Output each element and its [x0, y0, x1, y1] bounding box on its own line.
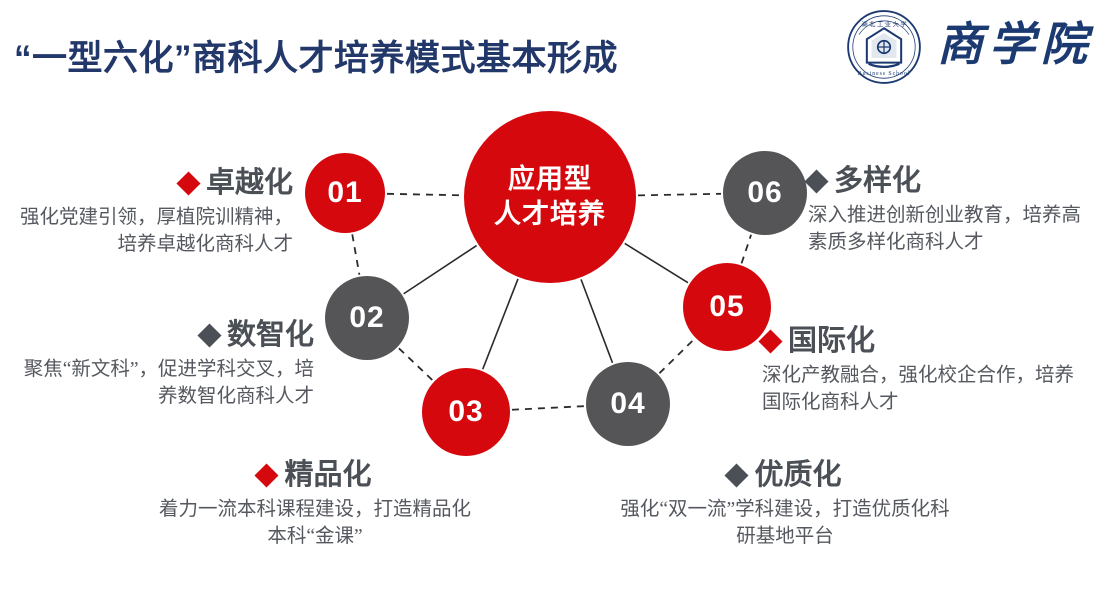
callout-body-jingpinhua: 着力一流本科课程建设，打造精品化本科“金课”	[150, 497, 480, 551]
callout-heading-text: 精品化	[284, 460, 371, 492]
dashed-link-01-02	[352, 234, 359, 274]
callout-body-zhuoyuehua: 强化党建引领，厚植院训精神，培养卓越化商科人才	[18, 205, 293, 259]
node-04[interactable]: 04	[586, 362, 670, 446]
callout-body-shuzhihua: 聚焦“新文科”，促进学科交叉，培养数智化商科人才	[22, 357, 314, 411]
diamond-marker-icon	[758, 330, 782, 354]
center-node-line1: 应用型	[508, 163, 592, 196]
diamond-marker-icon	[725, 464, 749, 488]
callout-body-guojihua: 深化产教融合，强化校企合作，培养国际化商科人才	[762, 363, 1080, 417]
solid-link-center-02	[404, 246, 477, 294]
callout-heading-shuzhihua: 数智化	[22, 320, 314, 352]
emblem-ring-text: 湖 北 工 业 大 学	[861, 21, 906, 29]
diamond-marker-icon	[804, 170, 828, 194]
callout-shuzhihua[interactable]: 数智化 聚焦“新文科”，促进学科交叉，培养数智化商科人才	[22, 320, 314, 411]
node-number-label: 04	[610, 389, 645, 419]
callout-heading-text: 多样化	[834, 166, 921, 198]
node-06[interactable]: 06	[723, 151, 807, 235]
node-number-label: 05	[709, 292, 744, 322]
callout-heading-youzhihua: 优质化	[620, 460, 950, 492]
node-number-label: 01	[327, 178, 362, 208]
diamond-marker-icon	[197, 324, 221, 348]
node-number-label: 02	[349, 303, 384, 333]
center-node-applied-talent[interactable]: 应用型 人才培养	[464, 111, 636, 283]
node-number-label: 06	[747, 178, 782, 208]
callout-jingpinhua[interactable]: 精品化 着力一流本科课程建设，打造精品化本科“金课”	[150, 460, 480, 551]
callout-heading-guojihua: 国际化	[762, 326, 1080, 358]
callout-heading-text: 数智化	[227, 320, 314, 352]
callout-heading-duoyanghua: 多样化	[808, 166, 1098, 198]
callout-zhuoyuehua[interactable]: 卓越化 强化党建引领，厚植院训精神，培养卓越化商科人才	[18, 168, 293, 259]
diamond-marker-icon	[255, 464, 279, 488]
dashed-link-05-06	[742, 235, 752, 264]
brand-wordmark: 商学院	[937, 22, 1093, 72]
diamond-marker-icon	[176, 172, 200, 196]
node-02[interactable]: 02	[325, 276, 409, 360]
callout-guojihua[interactable]: 国际化 深化产教融合，强化校企合作，培养国际化商科人才	[762, 326, 1080, 417]
callout-body-duoyanghua: 深入推进创新创业教育，培养高素质多样化商科人才	[808, 203, 1098, 257]
node-number-label: 03	[448, 397, 483, 427]
callout-heading-text: 卓越化	[206, 168, 293, 200]
callout-heading-jingpinhua: 精品化	[150, 460, 480, 492]
business-school-crest-icon: 湖 北 工 业 大 学 Business School	[845, 8, 923, 86]
node-03[interactable]: 03	[422, 368, 510, 456]
node-01[interactable]: 01	[305, 153, 385, 233]
dashed-link-02-03	[399, 348, 433, 380]
solid-link-center-04	[581, 279, 612, 362]
dashed-link-01-center	[387, 194, 462, 195]
callout-body-youzhihua: 强化“双一流”学科建设，打造优质化科研基地平台	[620, 497, 950, 551]
callout-duoyanghua[interactable]: 多样化 深入推进创新创业教育，培养高素质多样化商科人才	[808, 166, 1098, 257]
callout-heading-zhuoyuehua: 卓越化	[18, 168, 293, 200]
center-node-line2: 人才培养	[494, 198, 606, 231]
solid-link-center-03	[483, 279, 518, 369]
dashed-link-center-06	[638, 194, 721, 196]
callout-heading-text: 优质化	[754, 460, 841, 492]
brand-logo: 湖 北 工 业 大 学 Business School 商学院	[845, 8, 1093, 86]
node-05[interactable]: 05	[683, 263, 771, 351]
callout-youzhihua[interactable]: 优质化 强化“双一流”学科建设，打造优质化科研基地平台	[620, 460, 950, 551]
solid-link-center-05	[625, 243, 688, 282]
emblem-bottom-text: Business School	[858, 71, 911, 77]
dashed-link-03-04	[512, 406, 584, 410]
callout-heading-text: 国际化	[788, 326, 875, 358]
page-title: “一型六化”商科人才培养模式基本形成	[14, 30, 618, 81]
dashed-link-04-05	[659, 339, 694, 373]
